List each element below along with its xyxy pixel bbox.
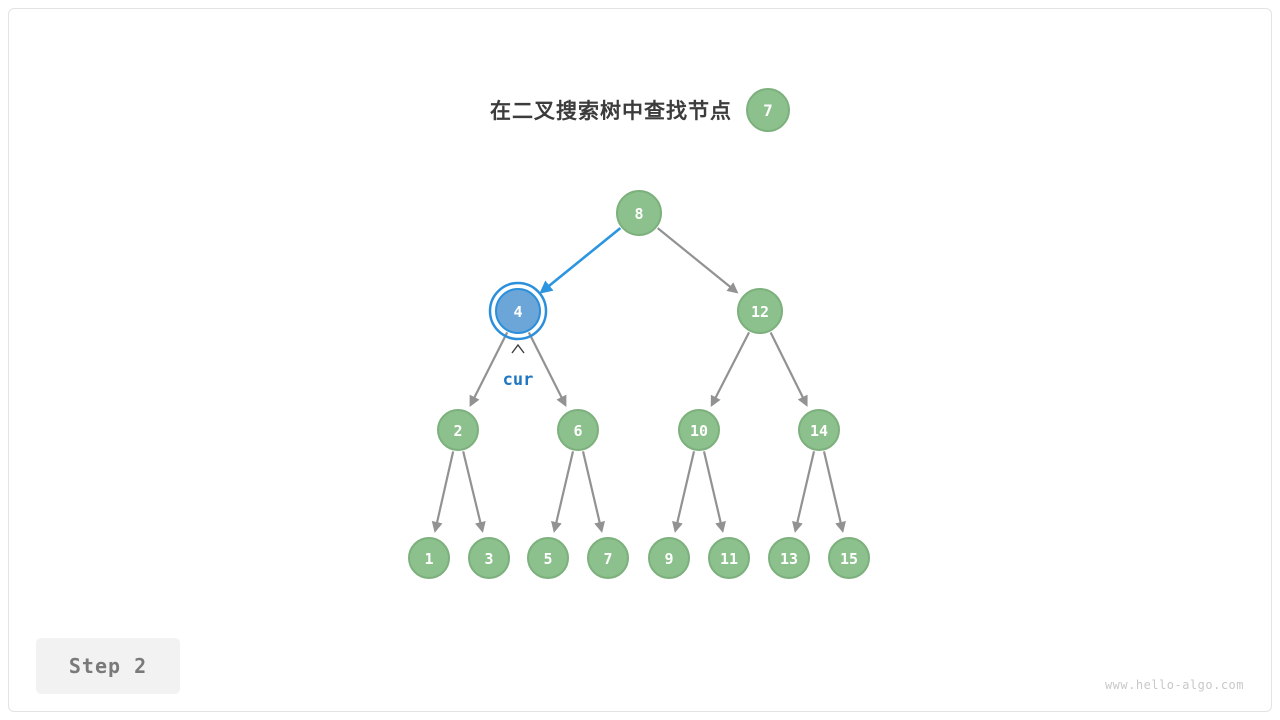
tree-node: 12 (738, 289, 782, 333)
tree-node: 13 (769, 538, 809, 578)
pointer-label: cur (503, 370, 534, 390)
tree-node: 7 (588, 538, 628, 578)
tree-nodes: 841226101413579111315 (409, 191, 869, 578)
tree-node: 10 (679, 410, 719, 450)
node-value: 7 (603, 550, 612, 568)
tree-edge (712, 332, 749, 405)
tree-edge (435, 451, 453, 530)
tree-edge (529, 332, 566, 405)
watermark: www.hello-algo.com (1105, 678, 1244, 692)
tree-edge (824, 451, 843, 530)
tree-edge (541, 228, 620, 292)
tree-node: 11 (709, 538, 749, 578)
tree-node: 14 (799, 410, 839, 450)
node-value: 15 (840, 550, 858, 568)
tree-edge (658, 228, 737, 292)
diagram-canvas: 在二叉搜索树中查找节点 7 841226101413579111315 cur … (0, 0, 1280, 720)
tree-edge (675, 451, 694, 530)
tree-edge (771, 333, 807, 405)
step-label: Step 2 (69, 654, 147, 678)
tree-edge (795, 451, 814, 530)
step-indicator: Step 2 (36, 638, 180, 694)
tree-node: 4 (490, 283, 546, 339)
tree-node: 3 (469, 538, 509, 578)
tree-edge (463, 451, 482, 530)
binary-search-tree: 841226101413579111315 cur (0, 0, 1280, 720)
node-value: 9 (664, 550, 673, 568)
node-value: 1 (424, 550, 433, 568)
node-value: 14 (810, 422, 828, 440)
cur-pointer: cur (503, 345, 534, 390)
tree-node: 15 (829, 538, 869, 578)
tree-edge (704, 451, 723, 530)
node-value: 5 (543, 550, 552, 568)
node-value: 13 (780, 550, 798, 568)
node-value: 3 (484, 550, 493, 568)
tree-node: 8 (617, 191, 661, 235)
tree-edge (471, 332, 508, 405)
tree-node: 9 (649, 538, 689, 578)
node-value: 8 (634, 205, 643, 223)
tree-edges (435, 228, 842, 531)
node-value: 12 (751, 303, 769, 321)
tree-edge (583, 451, 602, 530)
tree-edge (554, 451, 573, 530)
tree-node: 6 (558, 410, 598, 450)
tree-node: 1 (409, 538, 449, 578)
pointer-caret-icon (512, 345, 524, 353)
node-value: 11 (720, 550, 738, 568)
tree-node: 2 (438, 410, 478, 450)
node-value: 10 (690, 422, 708, 440)
node-value: 2 (453, 422, 462, 440)
tree-node: 5 (528, 538, 568, 578)
node-value: 4 (513, 303, 522, 321)
node-value: 6 (573, 422, 582, 440)
